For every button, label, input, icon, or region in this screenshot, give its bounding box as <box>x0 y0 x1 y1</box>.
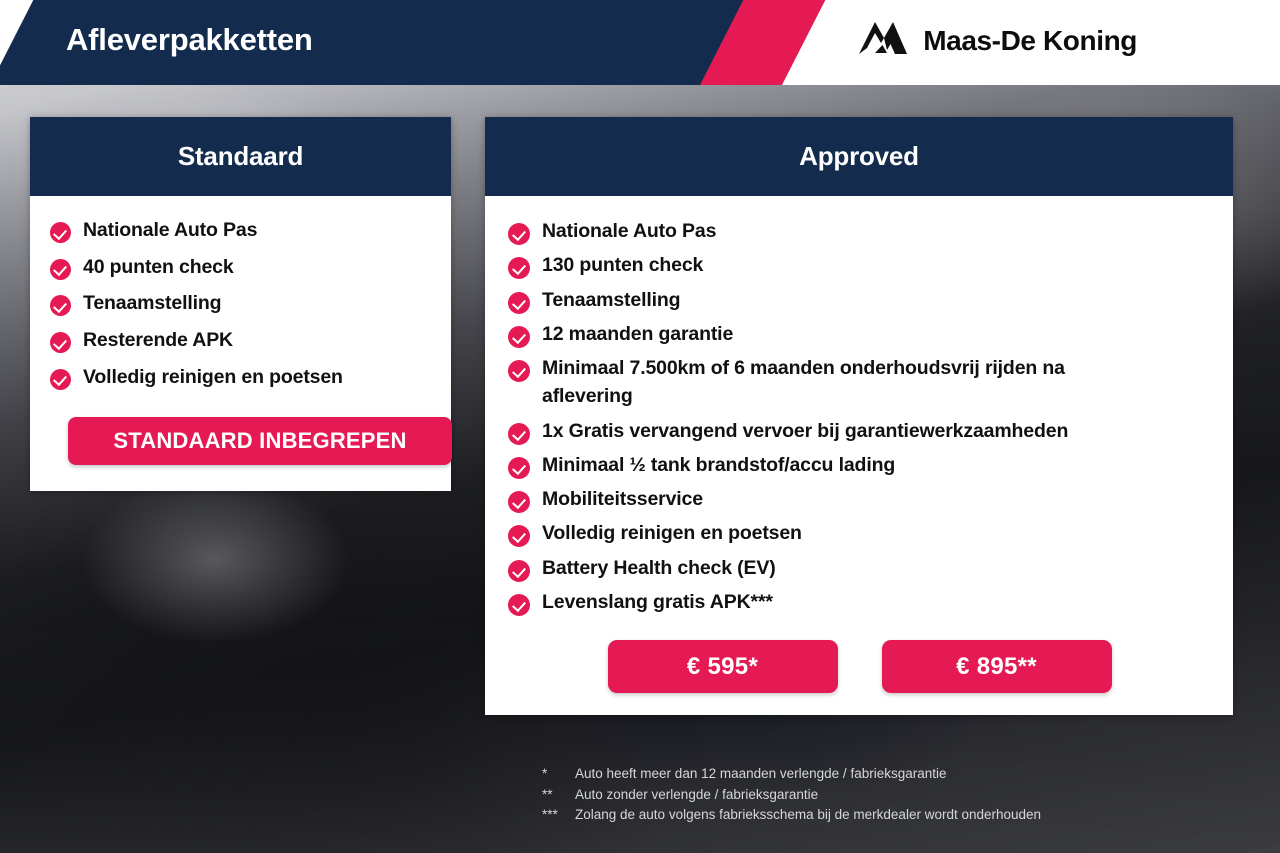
feature-label: Mobiliteitsservice <box>542 485 703 513</box>
list-item: Volledig reinigen en poetsen <box>50 364 427 392</box>
maas-de-koning-mountain-logo-icon <box>857 18 909 63</box>
footnote-text: Auto heeft meer dan 12 maanden verlengde… <box>575 764 947 785</box>
page-title: Afleverpakketten <box>66 22 313 58</box>
footnote-marker: ** <box>542 785 575 806</box>
feature-label: Nationale Auto Pas <box>83 217 257 245</box>
footnote-marker: * <box>542 764 575 785</box>
check-circle-icon <box>50 295 71 316</box>
feature-label: Battery Health check (EV) <box>542 554 776 582</box>
feature-list-standaard: Nationale Auto Pas 40 punten check Tenaa… <box>50 217 427 391</box>
card-header-approved: Approved <box>485 117 1233 196</box>
list-item: Tenaamstelling <box>50 290 427 318</box>
footnote-row: *** Zolang de auto volgens fabrieksschem… <box>542 805 1041 826</box>
list-item: Minimaal ½ tank brandstof/accu lading <box>508 451 1211 479</box>
brand-name-text: Maas-De Koning <box>923 25 1137 57</box>
feature-label: 1x Gratis vervangend vervoer bij garanti… <box>542 417 1068 445</box>
footnote-text: Zolang de auto volgens fabrieksschema bi… <box>575 805 1041 826</box>
check-circle-icon <box>508 223 530 245</box>
list-item: 40 punten check <box>50 254 427 282</box>
brand-logo: Maas-De Koning <box>857 18 1137 63</box>
feature-label: Nationale Auto Pas <box>542 217 716 245</box>
list-item: Levenslang gratis APK*** <box>508 588 1211 616</box>
footnote-row: * Auto heeft meer dan 12 maanden verleng… <box>542 764 1041 785</box>
check-circle-icon <box>508 423 530 445</box>
feature-label: 40 punten check <box>83 254 234 282</box>
feature-label: Levenslang gratis APK*** <box>542 588 773 616</box>
footnote-text: Auto zonder verlengde / fabrieksgarantie <box>575 785 818 806</box>
check-circle-icon <box>508 326 530 348</box>
check-circle-icon <box>508 491 530 513</box>
list-item: Volledig reinigen en poetsen <box>508 519 1211 547</box>
page-header: Afleverpakketten Maas-De Koning <box>0 0 1280 85</box>
feature-label: Tenaamstelling <box>83 290 221 318</box>
price-button-595[interactable]: € 595* <box>608 640 838 693</box>
check-circle-icon <box>50 369 71 390</box>
check-circle-icon <box>508 457 530 479</box>
feature-list-approved: Nationale Auto Pas 130 punten check Tena… <box>508 217 1211 616</box>
list-item: Battery Health check (EV) <box>508 554 1211 582</box>
standaard-inbegrepen-button[interactable]: STANDAARD INBEGREPEN <box>68 417 452 465</box>
card-body-standaard: Nationale Auto Pas 40 punten check Tenaa… <box>30 196 451 491</box>
card-title-standaard: Standaard <box>178 141 303 172</box>
list-item: Mobiliteitsservice <box>508 485 1211 513</box>
check-circle-icon <box>508 560 530 582</box>
check-circle-icon <box>508 292 530 314</box>
list-item: Nationale Auto Pas <box>50 217 427 245</box>
check-circle-icon <box>50 222 71 243</box>
feature-label: Minimaal 7.500km of 6 maanden onderhouds… <box>542 354 1142 411</box>
list-item: Nationale Auto Pas <box>508 217 1211 245</box>
card-body-approved: Nationale Auto Pas 130 punten check Tena… <box>485 196 1233 715</box>
feature-label: Tenaamstelling <box>542 286 680 314</box>
check-circle-icon <box>50 332 71 353</box>
list-item: 130 punten check <box>508 251 1211 279</box>
feature-label: Volledig reinigen en poetsen <box>542 519 802 547</box>
price-button-895[interactable]: € 895** <box>882 640 1112 693</box>
list-item: Minimaal 7.500km of 6 maanden onderhouds… <box>508 354 1211 411</box>
package-card-approved: Approved Nationale Auto Pas 130 punten c… <box>485 117 1233 715</box>
feature-label: Volledig reinigen en poetsen <box>83 364 343 392</box>
package-card-standaard: Standaard Nationale Auto Pas 40 punten c… <box>30 117 451 491</box>
feature-label: Resterende APK <box>83 327 233 355</box>
list-item: 1x Gratis vervangend vervoer bij garanti… <box>508 417 1211 445</box>
footnote-row: ** Auto zonder verlengde / fabrieksgaran… <box>542 785 1041 806</box>
feature-label: Minimaal ½ tank brandstof/accu lading <box>542 451 895 479</box>
price-button-row: € 595* € 895** <box>508 640 1211 697</box>
check-circle-icon <box>508 257 530 279</box>
card-header-standaard: Standaard <box>30 117 451 196</box>
feature-label: 130 punten check <box>542 251 703 279</box>
check-circle-icon <box>508 594 530 616</box>
feature-label: 12 maanden garantie <box>542 320 733 348</box>
footnote-marker: *** <box>542 805 575 826</box>
check-circle-icon <box>508 360 530 382</box>
poster-stage: Afleverpakketten Maas-De Koning Standaar… <box>0 0 1280 853</box>
check-circle-icon <box>508 525 530 547</box>
footnotes-block: * Auto heeft meer dan 12 maanden verleng… <box>542 764 1041 826</box>
list-item: Tenaamstelling <box>508 286 1211 314</box>
list-item: Resterende APK <box>50 327 427 355</box>
card-title-approved: Approved <box>799 141 919 172</box>
list-item: 12 maanden garantie <box>508 320 1211 348</box>
check-circle-icon <box>50 259 71 280</box>
